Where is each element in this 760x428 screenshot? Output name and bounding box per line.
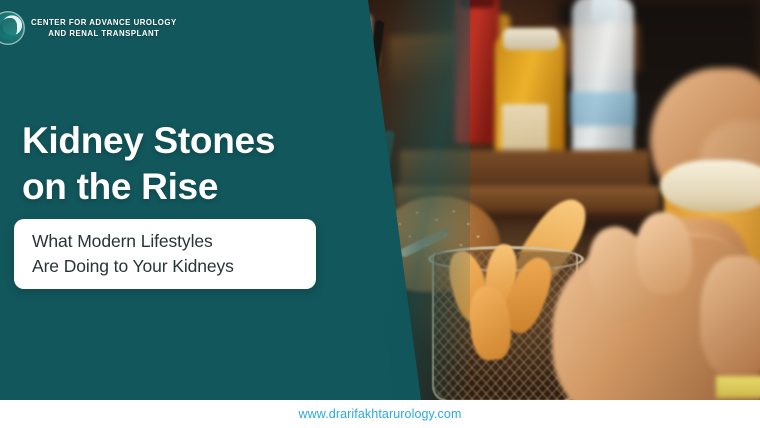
footer-bar: www.drarifakhtarurology.com [0, 400, 760, 428]
clinic-logo[interactable]: CENTER FOR ADVANCE UROLOGY AND RENAL TRA… [0, 11, 189, 45]
clinic-logo-line-2: AND RENAL TRANSPLANT [31, 28, 177, 40]
headline-line-2: on the Rise [22, 164, 275, 210]
beer-foam [660, 160, 760, 212]
water-bottle-neck [592, 0, 616, 20]
subtitle-line-1: What Modern Lifestyles [32, 229, 298, 254]
website-url-link[interactable]: www.drarifakhtarurology.com [299, 407, 462, 421]
ketchup-bottle [455, 0, 499, 144]
clinic-globe-emblem-icon [0, 11, 25, 45]
clinic-logo-text: CENTER FOR ADVANCE UROLOGY AND RENAL TRA… [31, 17, 177, 40]
page-title: Kidney Stones on the Rise [22, 118, 275, 210]
thumb [700, 256, 760, 376]
headline-line-1: Kidney Stones [22, 118, 275, 164]
subtitle-line-2: Are Doing to Your Kidneys [32, 254, 298, 279]
clinic-logo-line-1: CENTER FOR ADVANCE UROLOGY [31, 17, 177, 29]
ketchup-bottle-cap [459, 0, 495, 8]
subtitle-card: What Modern Lifestyles Are Doing to Your… [14, 219, 316, 289]
water-bottle-label [570, 92, 636, 126]
promotional-banner: CENTER FOR ADVANCE UROLOGY AND RENAL TRA… [0, 0, 760, 428]
yellow-napkin [716, 376, 760, 398]
mustard-bottle-cap [503, 28, 559, 50]
